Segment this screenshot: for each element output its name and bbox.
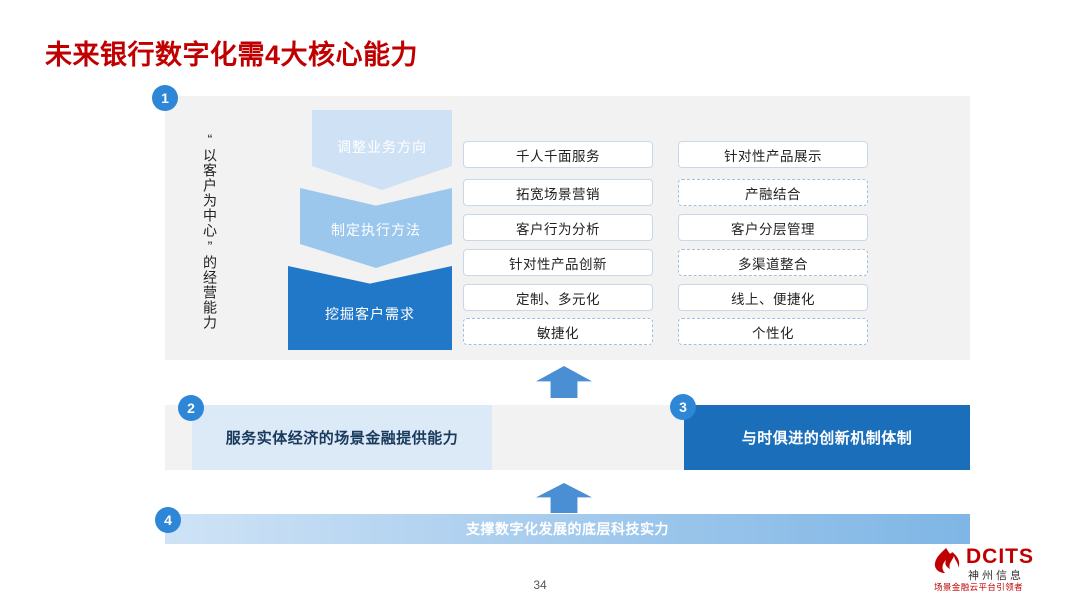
chevron-label: 制定执行方法 <box>331 220 421 240</box>
chevron-label: 挖掘客户需求 <box>325 304 415 324</box>
dcits-flame-icon <box>932 547 962 575</box>
company-logo: DCITS 神州信息 场景金融云平台引领者 <box>932 545 1062 593</box>
page-title: 未来银行数字化需4大核心能力 <box>45 33 418 72</box>
up-arrow-icon <box>536 483 592 513</box>
capability-pill: 多渠道整合 <box>678 249 868 276</box>
badge-number-4: 4 <box>155 507 181 533</box>
capability-pill: 针对性产品创新 <box>463 249 653 276</box>
capability-pill: 敏捷化 <box>463 318 653 345</box>
badge-number-2: 2 <box>178 395 204 421</box>
capability-pill: 定制、多元化 <box>463 284 653 311</box>
capability-pill: 千人千面服务 <box>463 141 653 168</box>
capability-pill: 拓宽场景营销 <box>463 179 653 206</box>
capability-pill: 个性化 <box>678 318 868 345</box>
capability-band-four: 支撑数字化发展的底层科技实力 <box>165 514 970 544</box>
capability-box-two: 服务实体经济的场景金融提供能力 <box>192 405 492 470</box>
capability-pill: 客户分层管理 <box>678 214 868 241</box>
customer-centric-vertical-label: “以客户为中心”的经营能力 <box>192 106 218 354</box>
capability-pill: 产融结合 <box>678 179 868 206</box>
capability-pill: 线上、便捷化 <box>678 284 868 311</box>
up-arrow-icon <box>536 366 592 398</box>
badge-number-3: 3 <box>670 394 696 420</box>
logo-name: DCITS <box>966 545 1034 569</box>
chevron-label: 调整业务方向 <box>337 137 427 157</box>
badge-number-1: 1 <box>152 85 178 111</box>
logo-tagline: 场景金融云平台引领者 <box>934 581 1023 593</box>
capability-pill: 针对性产品展示 <box>678 141 868 168</box>
capability-box-three: 与时俱进的创新机制体制 <box>684 405 970 470</box>
capability-pill: 客户行为分析 <box>463 214 653 241</box>
page-number: 34 <box>0 578 1080 592</box>
